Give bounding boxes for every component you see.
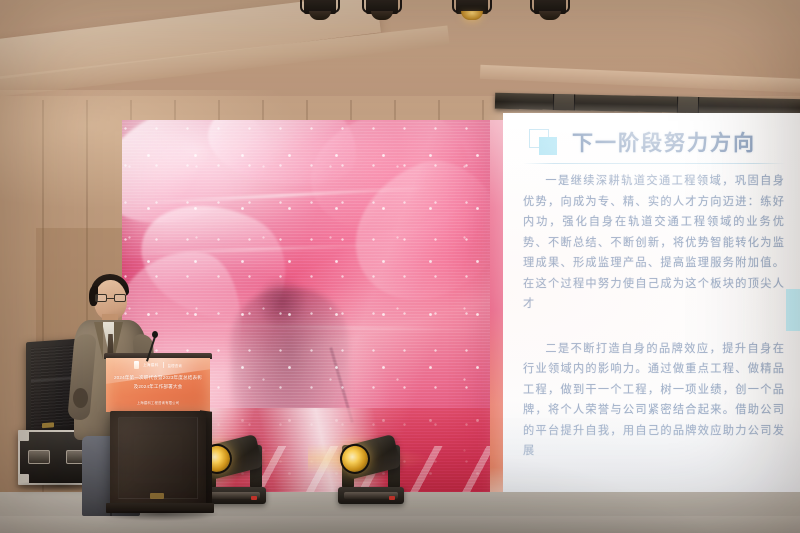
microphone-capsule-icon <box>152 331 158 338</box>
eyeglass-lens-left <box>95 294 107 302</box>
screenshot-root: 下一阶段努力方向 一是继续深耕轨道交通工程领域，巩固自身优势，向成为专、精、实的… <box>0 0 800 533</box>
ceiling-moving-head-icon <box>300 0 340 24</box>
banner-light-sheen <box>106 358 210 386</box>
ceiling-moving-head-icon <box>362 0 402 24</box>
projected-slide: 下一阶段努力方向 一是继续深耕轨道交通工程领域，巩固自身优势，向成为专、精、实的… <box>503 113 800 533</box>
ceiling-moving-head-icon <box>530 0 570 24</box>
fixture-lens <box>371 11 393 20</box>
fixture-power-led-icon <box>389 496 395 500</box>
fixture-lens <box>309 11 331 20</box>
podium-front-panel <box>110 411 206 507</box>
fixture-lens <box>461 11 483 20</box>
slide-title: 下一阶段努力方向 <box>572 127 756 157</box>
floor-moving-head-light-right <box>338 424 404 504</box>
slide-content: 下一阶段努力方向 一是继续深耕轨道交通工程领域，巩固自身优势，向成为专、精、实的… <box>503 113 800 533</box>
double-square-decoration-icon <box>529 129 559 155</box>
speaker-brand-logo-icon <box>42 422 54 428</box>
podium-banner: 上海建科 监理咨询 2024年第一次职代会暨2023年度总结表彰 及2024年工… <box>106 358 210 412</box>
podium-panel-inset <box>118 417 198 499</box>
flight-case-corner <box>18 430 29 441</box>
fixture-power-led-icon <box>251 496 257 500</box>
slide-paragraph-1: 一是继续深耕轨道交通工程领域，巩固自身优势，向成为专、精、实的人才方向迈进：练好… <box>523 171 785 315</box>
slide-paragraph-2: 二是不断打造自身的品牌效应，提升自身在行业领域内的影响力。通过做重点工程、做精品… <box>523 339 785 462</box>
slide-body: 一是继续深耕轨道交通工程领域，巩固自身优势，向成为专、精、实的人才方向迈进：练好… <box>523 171 785 486</box>
eyeglass-lens-right <box>114 294 126 302</box>
podium-footer-text: 上海建科工程咨询有限公司 <box>106 400 210 405</box>
slide-accent-block <box>786 289 800 331</box>
ceiling-moving-head-icon <box>452 0 492 24</box>
slide-title-divider <box>523 163 785 164</box>
truss-node <box>553 94 575 110</box>
fixture-lens <box>539 11 561 20</box>
truss-node <box>677 97 699 113</box>
podium-emblem-icon <box>150 493 164 499</box>
eyeglass-bridge <box>107 298 114 299</box>
presenter-elbow-patch <box>73 388 88 408</box>
flight-case-handle <box>28 450 50 464</box>
podium-headline-line-2: 及2024年工作部署大会 <box>106 384 210 390</box>
square-filled-icon <box>539 137 557 155</box>
slide-title-row: 下一阶段努力方向 <box>529 127 756 157</box>
podium-floor-shadow <box>102 511 218 521</box>
podium: 上海建科 监理咨询 2024年第一次职代会暨2023年度总结表彰 及2024年工… <box>104 353 212 515</box>
eyeglasses-icon <box>95 294 126 302</box>
